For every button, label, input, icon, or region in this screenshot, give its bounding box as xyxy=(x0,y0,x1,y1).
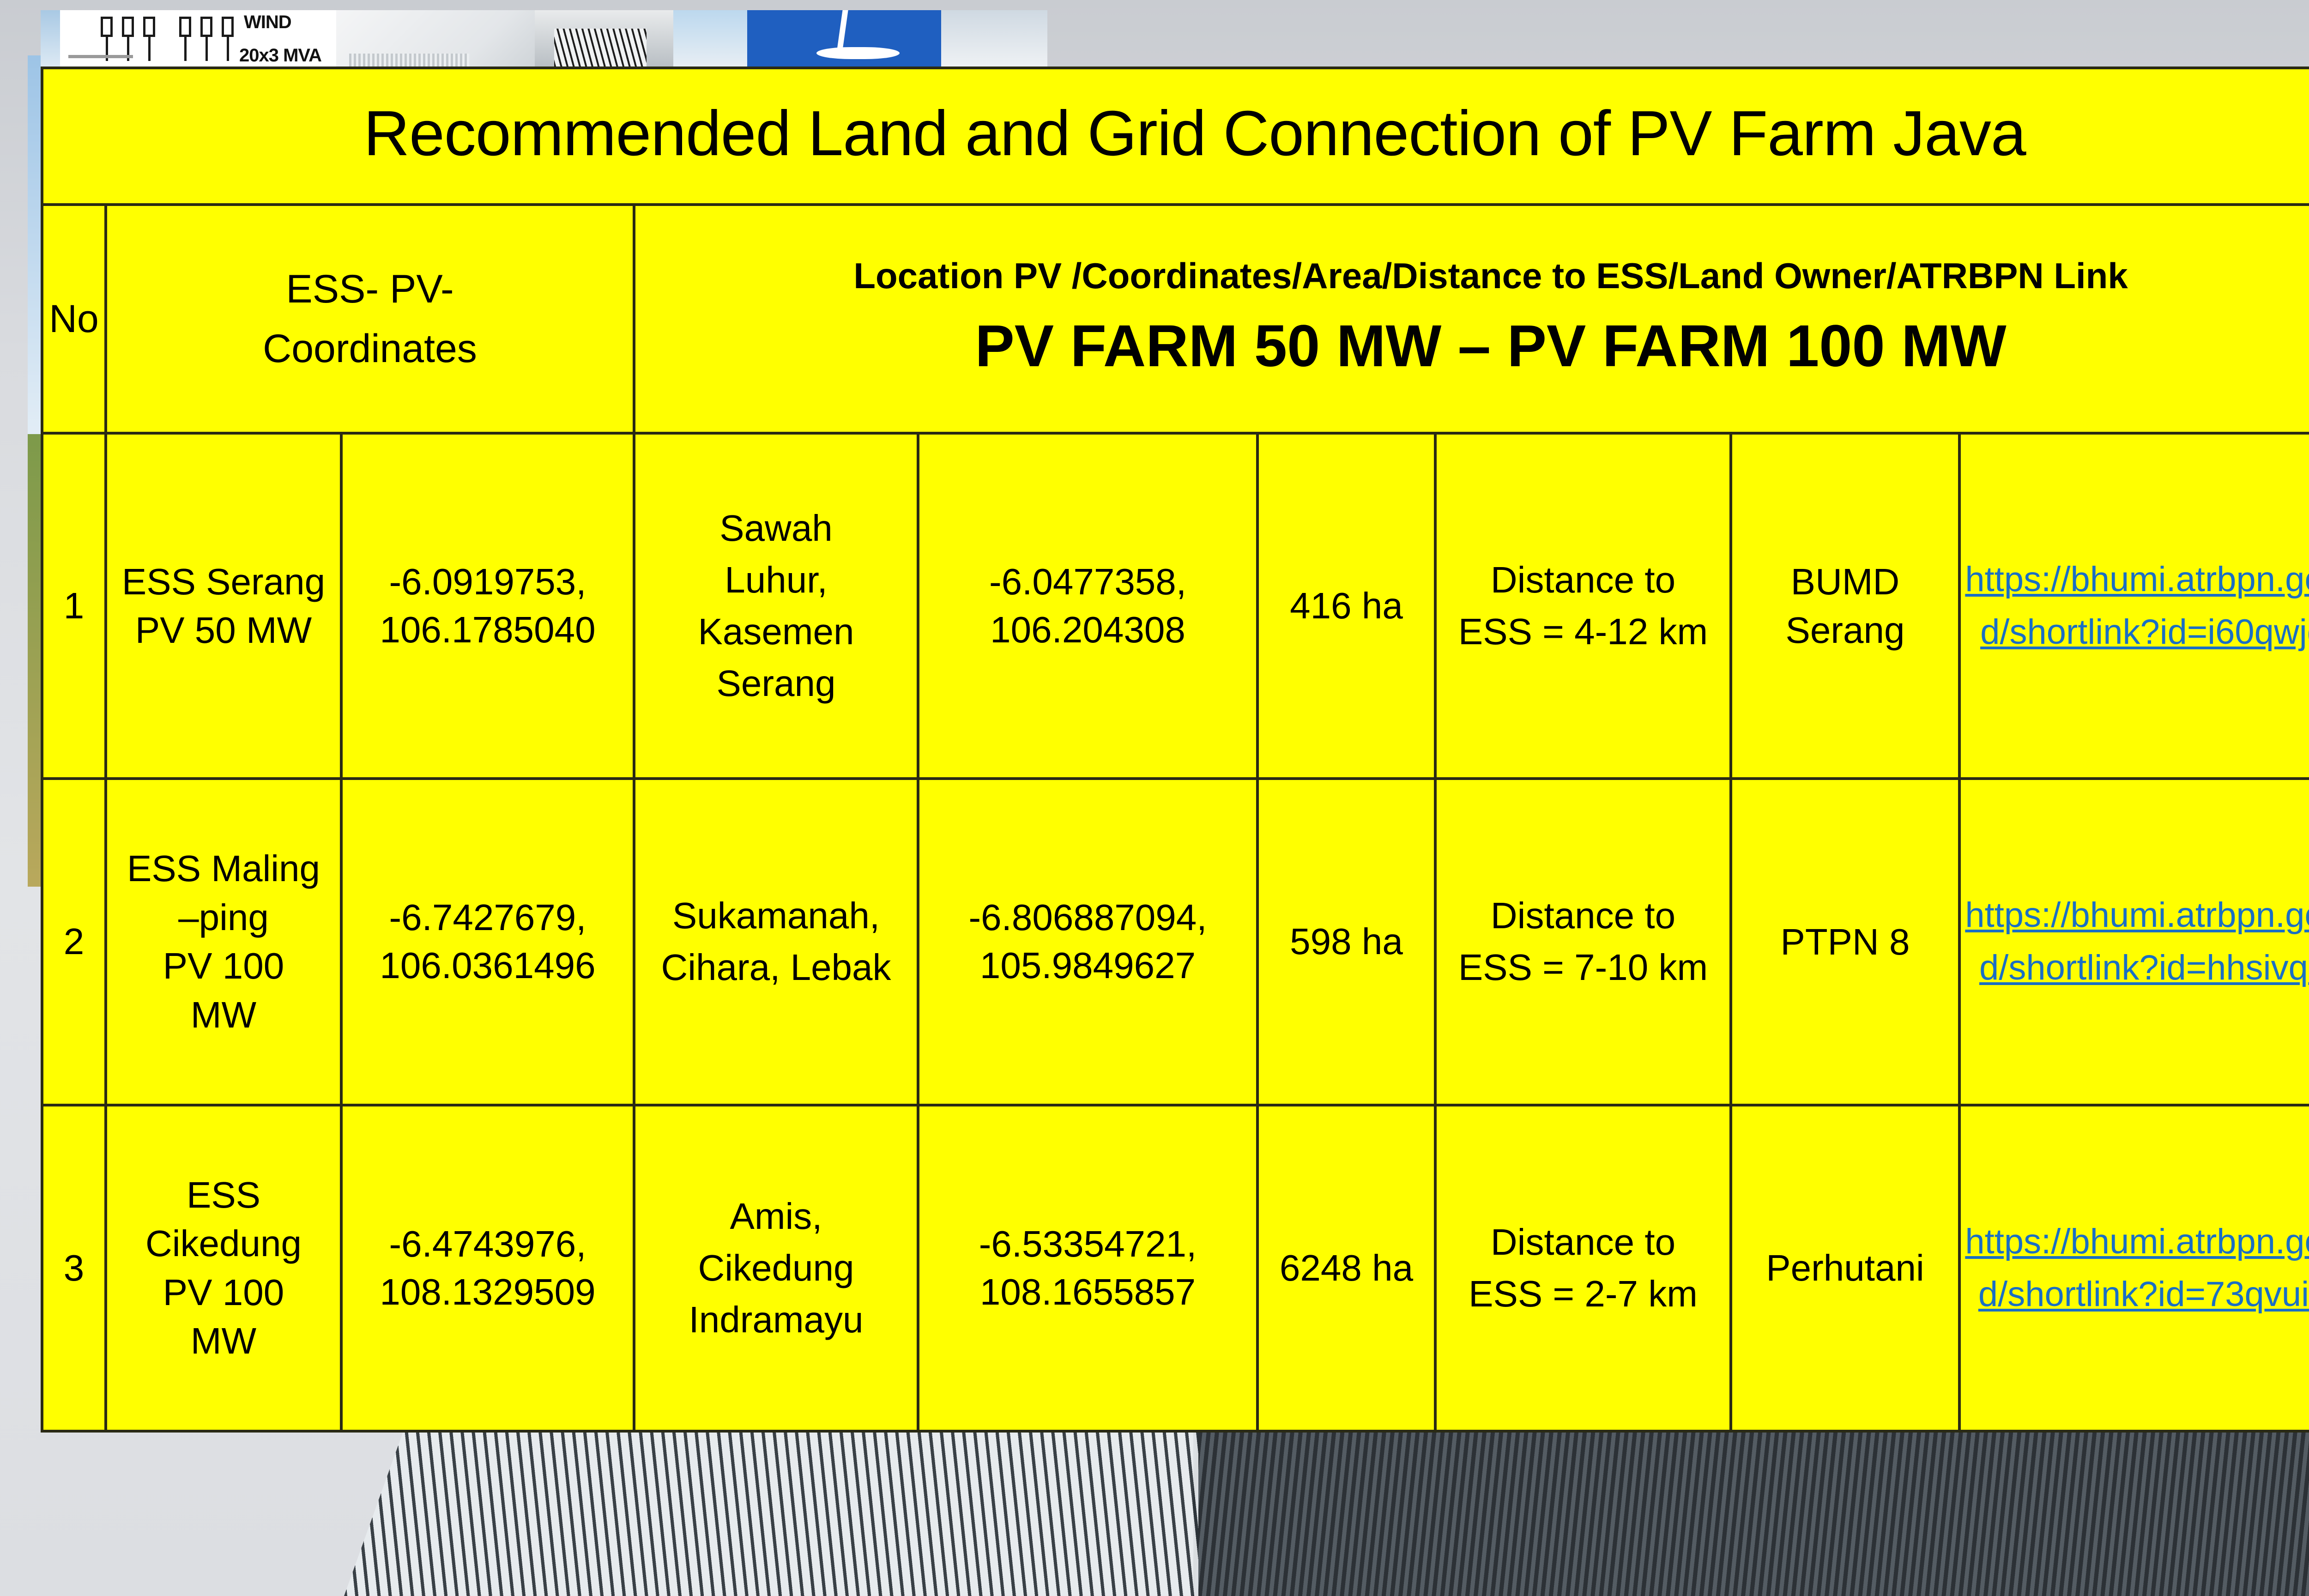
cell-ess-coord-lat: -6.7427679, xyxy=(389,897,586,938)
cell-location-line2: Cikedung xyxy=(698,1247,854,1288)
cell-ess-name-line1: ESS Serang xyxy=(122,561,325,602)
cell-ess-name-line2: PV 50 MW xyxy=(135,610,312,651)
table-row: 2 ESS Maling –ping PV 100 MW -6.7427679,… xyxy=(42,779,2309,1105)
cell-ess-name: ESS Cikedung PV 100 MW xyxy=(106,1105,341,1431)
cell-land-owner: BUMD Serang xyxy=(1731,433,1959,779)
column-header-ess-line1: ESS- PV- xyxy=(286,267,453,311)
cell-ess-name-line2: Cikedung xyxy=(145,1223,302,1264)
column-header-pv-farm-capacity: PV FARM 50 MW – PV FARM 100 MW xyxy=(638,307,2309,387)
cell-ess-name-line1: ESS Maling xyxy=(127,848,320,889)
cell-no: 2 xyxy=(42,779,106,1105)
cell-ess-name: ESS Maling –ping PV 100 MW xyxy=(106,779,341,1105)
cell-location-line1: Sukamanah, xyxy=(672,895,880,936)
background-interior-thumb xyxy=(336,10,535,66)
recommended-land-grid-table: Recommended Land and Grid Connection of … xyxy=(41,66,2309,1433)
cell-ess-coord-lon: 106.0361496 xyxy=(380,945,595,986)
cell-ess-name-line3: PV 100 xyxy=(163,945,284,986)
table-title-row: Recommended Land and Grid Connection of … xyxy=(42,68,2309,205)
cell-location: Sukamanah, Cihara, Lebak xyxy=(634,779,918,1105)
cell-land-owner-line1: BUMD xyxy=(1791,561,1900,602)
background-diagram-mva-label: 20x3 MVA xyxy=(239,45,321,66)
cell-location-line1: Sawah xyxy=(719,508,833,549)
cell-location-line3: Kasemen xyxy=(698,611,854,652)
cell-distance-line1: Distance to xyxy=(1491,559,1675,600)
column-header-location-detail: Location PV /Coordinates/Area/Distance t… xyxy=(638,252,2309,300)
cell-location-line1: Amis, xyxy=(730,1196,822,1237)
cell-ess-coordinates: -6.7427679, 106.0361496 xyxy=(341,779,634,1105)
cell-pv-coord-lon: 108.1655857 xyxy=(980,1271,1196,1312)
cell-ess-name-line2: –ping xyxy=(178,897,269,938)
cell-ess-name-line4: MW xyxy=(191,1320,256,1361)
cell-no: 1 xyxy=(42,433,106,779)
cell-ess-name-line3: PV 100 xyxy=(163,1272,284,1313)
cell-ess-name-line1: ESS xyxy=(187,1174,260,1215)
cell-atrbpn-link[interactable]: https://bhumi.atrbpn.go.id/shortlink?id=… xyxy=(1959,433,2309,779)
cell-distance: Distance to ESS = 4-12 km xyxy=(1435,433,1731,779)
background-sld-diagram-thumb: WIND 20x3 MVA xyxy=(41,10,336,66)
cell-land-owner-line2: Serang xyxy=(1786,610,1905,651)
cell-pv-coordinates: -6.806887094, 105.9849627 xyxy=(918,779,1257,1105)
cell-distance: Distance to ESS = 2-7 km xyxy=(1435,1105,1731,1431)
atrbpn-link[interactable]: https://bhumi.atrbpn.go.id/shortlink?id=… xyxy=(1965,1222,2309,1314)
cell-pv-coord-lon: 105.9849627 xyxy=(980,945,1196,986)
column-header-ess-pv-coordinates: ESS- PV- Coordinates xyxy=(106,205,634,433)
cell-ess-coord-lon: 108.1329509 xyxy=(380,1271,595,1312)
cell-location-line4: Serang xyxy=(717,663,836,704)
cell-ess-coordinates: -6.4743976, 108.1329509 xyxy=(341,1105,634,1431)
background-architecture-thumb xyxy=(535,10,673,66)
page-title: Recommended Land and Grid Connection of … xyxy=(42,68,2309,205)
background-wind-turbine-thumb xyxy=(747,10,941,66)
column-header-no: No xyxy=(42,205,106,433)
cell-pv-coord-lat: -6.53354721, xyxy=(979,1223,1197,1264)
cell-area: 598 ha xyxy=(1257,779,1435,1105)
background-pale-thumb xyxy=(941,10,1047,66)
table-row: 1 ESS Serang PV 50 MW -6.0919753, 106.17… xyxy=(42,433,2309,779)
cell-location: Sawah Luhur, Kasemen Serang xyxy=(634,433,918,779)
cell-distance-line2: ESS = 2-7 km xyxy=(1469,1273,1698,1314)
cell-ess-coord-lat: -6.0919753, xyxy=(389,561,586,602)
column-header-location-group: Location PV /Coordinates/Area/Distance t… xyxy=(634,205,2309,433)
table-header-row: No ESS- PV- Coordinates Location PV /Coo… xyxy=(42,205,2309,433)
cell-pv-coordinates: -6.0477358, 106.204308 xyxy=(918,433,1257,779)
cell-ess-name: ESS Serang PV 50 MW xyxy=(106,433,341,779)
cell-land-owner: Perhutani xyxy=(1731,1105,1959,1431)
cell-atrbpn-link[interactable]: https://bhumi.atrbpn.go.id/shortlink?id=… xyxy=(1959,779,2309,1105)
cell-distance-line1: Distance to xyxy=(1491,895,1675,936)
cell-area: 416 ha xyxy=(1257,433,1435,779)
cell-pv-coord-lat: -6.806887094, xyxy=(968,897,1207,938)
cell-pv-coordinates: -6.53354721, 108.1655857 xyxy=(918,1105,1257,1431)
cell-distance-line2: ESS = 7-10 km xyxy=(1458,947,1708,988)
cell-distance-line2: ESS = 4-12 km xyxy=(1458,611,1708,652)
cell-location-line2: Cihara, Lebak xyxy=(661,947,891,988)
background-diagram-wind-label: WIND xyxy=(244,12,291,33)
cell-distance-line1: Distance to xyxy=(1491,1221,1675,1263)
cell-land-owner: PTPN 8 xyxy=(1731,779,1959,1105)
pv-farm-table-container: Recommended Land and Grid Connection of … xyxy=(41,66,2309,1433)
atrbpn-link[interactable]: https://bhumi.atrbpn.go.id/shortlink?id=… xyxy=(1965,560,2309,652)
cell-pv-coord-lat: -6.0477358, xyxy=(989,561,1186,602)
cell-atrbpn-link[interactable]: https://bhumi.atrbpn.go.id/shortlink?id=… xyxy=(1959,1105,2309,1431)
background-sky-thumb xyxy=(673,10,747,66)
atrbpn-link[interactable]: https://bhumi.atrbpn.go.id/shortlink?id=… xyxy=(1965,895,2309,987)
cell-location-line3: Indramayu xyxy=(689,1299,864,1340)
cell-no: 3 xyxy=(42,1105,106,1431)
cell-ess-coordinates: -6.0919753, 106.1785040 xyxy=(341,433,634,779)
cell-location: Amis, Cikedung Indramayu xyxy=(634,1105,918,1431)
cell-area: 6248 ha xyxy=(1257,1105,1435,1431)
cell-ess-name-line4: MW xyxy=(191,994,256,1035)
cell-distance: Distance to ESS = 7-10 km xyxy=(1435,779,1731,1105)
cell-ess-coord-lon: 106.1785040 xyxy=(380,609,595,650)
background-photo-strip: WIND 20x3 MVA xyxy=(41,10,1047,66)
table-row: 3 ESS Cikedung PV 100 MW -6.4743976, 108… xyxy=(42,1105,2309,1431)
cell-location-line2: Luhur, xyxy=(725,559,827,600)
cell-ess-coord-lat: -6.4743976, xyxy=(389,1223,586,1264)
column-header-ess-line2: Coordinates xyxy=(263,326,477,371)
cell-pv-coord-lon: 106.204308 xyxy=(990,609,1185,650)
